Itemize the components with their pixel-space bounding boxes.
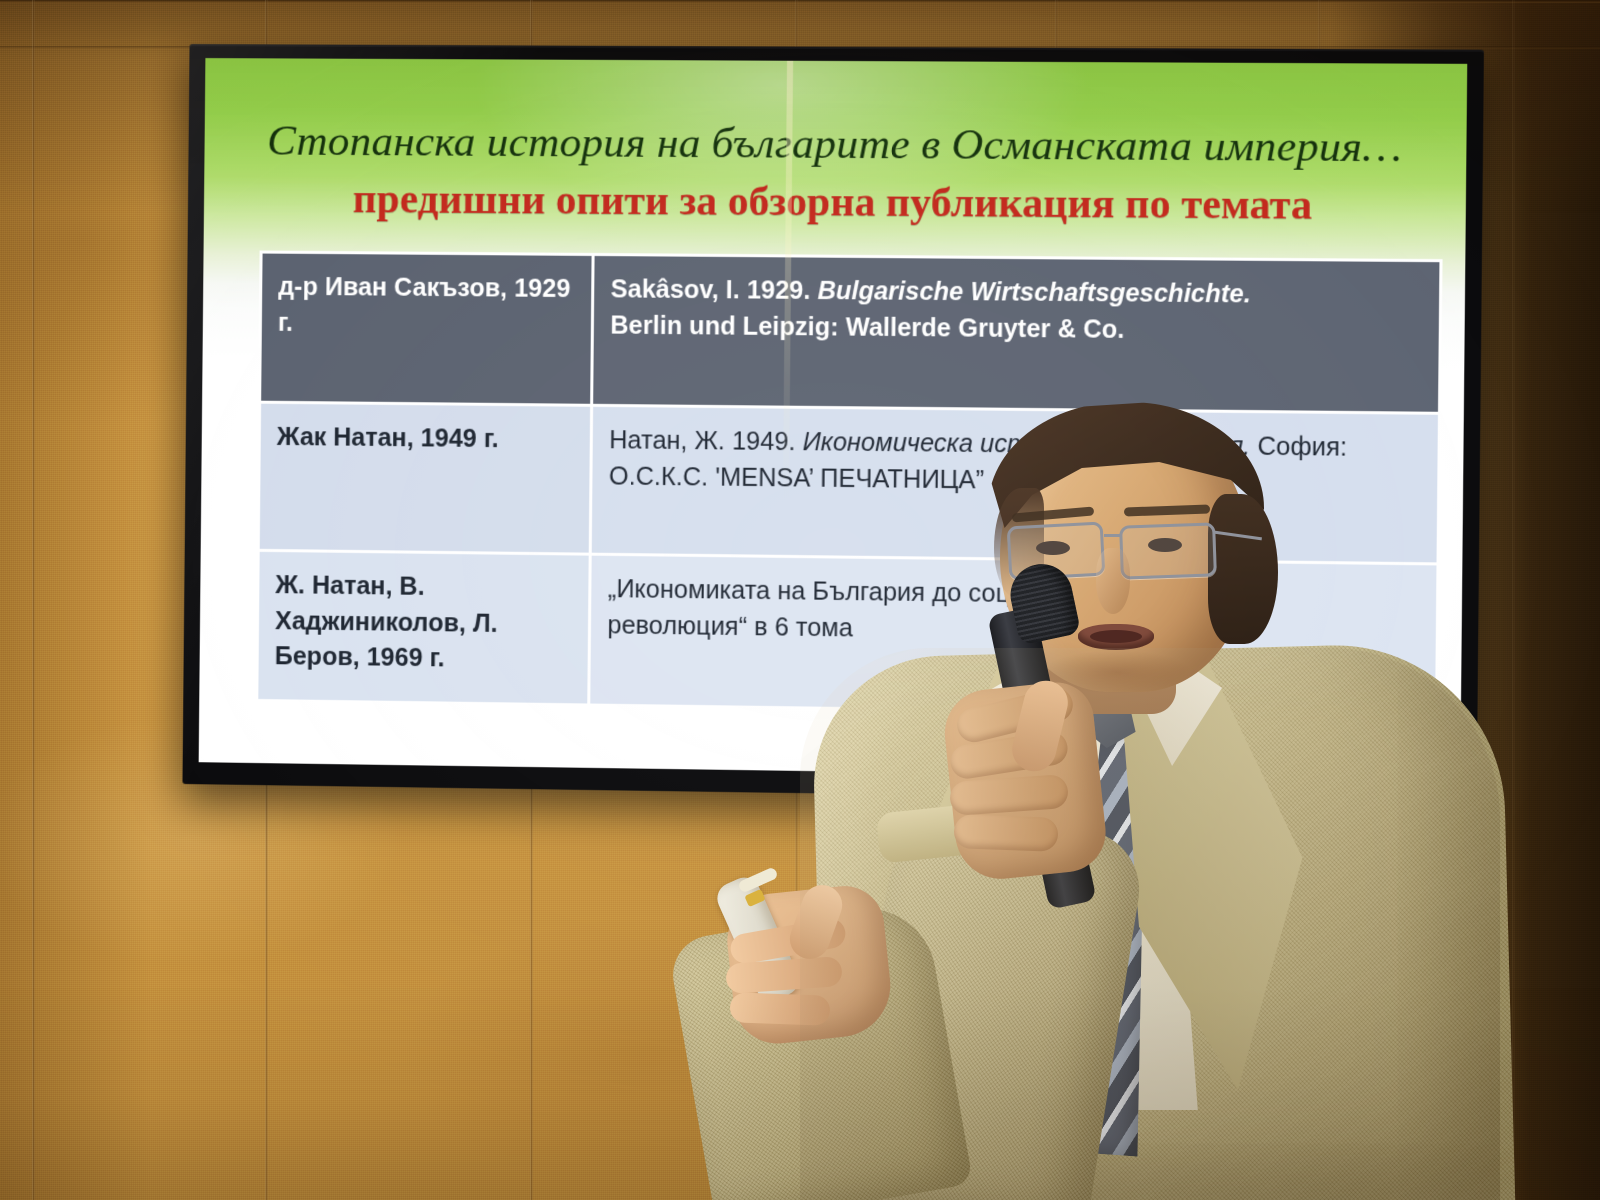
table-row: д-р Иван Сакъзов, 1929 г. Sakâsov, I. 19… [260, 252, 1441, 413]
wall-mounted-display: Стопанска история на българите в Османск… [182, 44, 1484, 803]
reference-text-plain: Sakâsov, I. 1929. [611, 275, 818, 305]
wall-panel-seam [1512, 0, 1515, 1200]
table-cell-author: д-р Иван Сакъзов, 1929 г. [260, 252, 594, 405]
reference-text-italic: Икономическа история на България. [803, 428, 1251, 461]
wall-trim-top [0, 0, 1600, 3]
slide-title-line-1: Стопанска история на българите в Османск… [248, 116, 1421, 172]
table-cell-author: Ж. Натан, В. Хаджиниколов, Л. Беров, 196… [257, 550, 591, 705]
table-cell-author: Жак Натан, 1949 г. [258, 402, 592, 554]
table-cell-reference: Натан, Ж. 1949. Икономическа история на … [591, 405, 1440, 564]
slide-title-line-2: предишни опити за обзорна публикация по … [248, 173, 1421, 229]
reference-text-italic: Bulgarische Wirtschaftsgeschichte. [817, 277, 1251, 309]
slide-content: Стопанска история на българите в Османск… [199, 58, 1468, 780]
reference-text-plain: Натан, Ж. 1949. [609, 426, 803, 456]
table-row: Ж. Натан, В. Хаджиниколов, Л. Беров, 196… [257, 550, 1438, 716]
reference-text-publisher: революция“ в 6 тома [607, 611, 853, 642]
display-screen: Стопанска история на българите в Османск… [199, 58, 1468, 780]
publications-table: д-р Иван Сакъзов, 1929 г. Sakâsov, I. 19… [255, 251, 1442, 719]
reference-text-publisher: Berlin und Leipzig: Wallerde Gruyter & C… [610, 311, 1124, 344]
table-row: Жак Натан, 1949 г. Натан, Ж. 1949. Иконо… [258, 402, 1439, 564]
wall-panel-seam [32, 0, 35, 1200]
presentation-room-scene: Стопанска история на българите в Османск… [0, 0, 1600, 1200]
table-cell-reference: Sakâsov, I. 1929. Bulgarische Wirtschaft… [592, 254, 1441, 413]
reference-text-plain: „Икономиката на България до социалистиче… [608, 575, 1199, 610]
table-cell-reference: „Икономиката на България до социалистиче… [589, 554, 1438, 716]
